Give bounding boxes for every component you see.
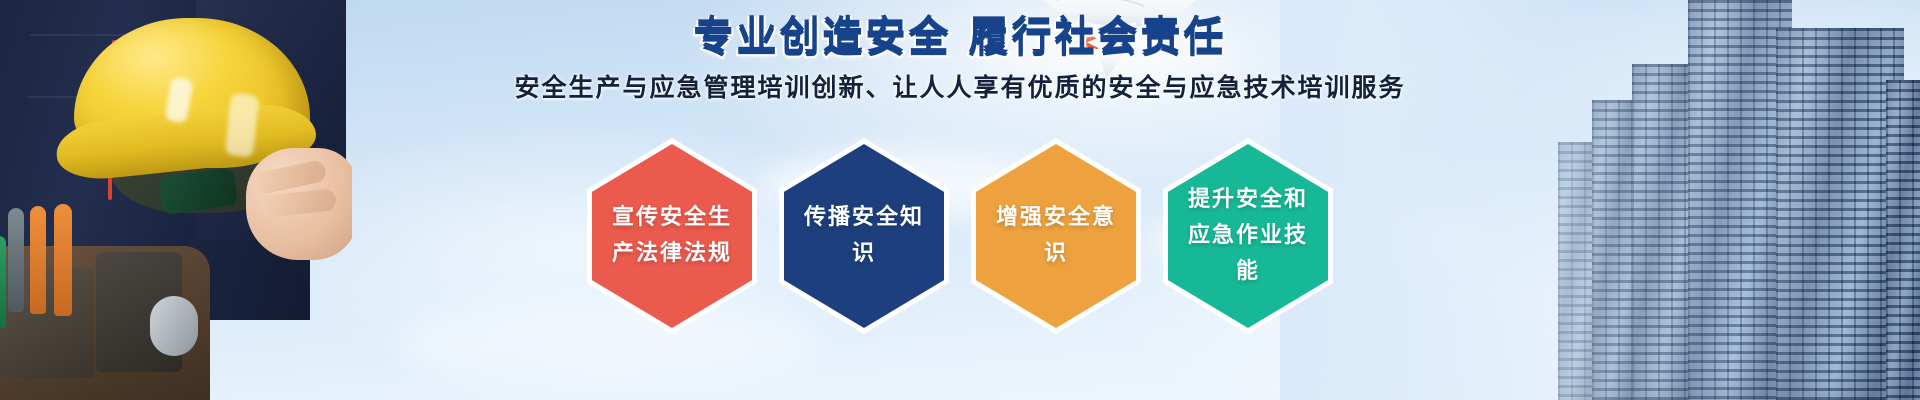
safety-training-banner: 专业创造安全 履行社会责任 专业创造安全 履行社会责任 安全生产与应急管理培训创… bbox=[0, 0, 1920, 400]
page-subtitle: 安全生产与应急管理培训创新、让人人享有优质的安全与应急技术培训服务 bbox=[0, 68, 1920, 104]
badge-laws-fill: 宣传安全生产法律法规 bbox=[592, 144, 752, 328]
badge-knowledge[interactable]: 传播安全知识 bbox=[779, 138, 949, 334]
page-title: 专业创造安全 履行社会责任 bbox=[0, 3, 1920, 61]
badge-laws-label: 宣传安全生产法律法规 bbox=[610, 200, 734, 272]
badge-knowledge-label: 传播安全知识 bbox=[802, 200, 926, 272]
badge-skills[interactable]: 提升安全和应急作业技能 bbox=[1163, 138, 1333, 334]
badge-skills-label: 提升安全和应急作业技能 bbox=[1186, 182, 1310, 290]
badge-awareness-label: 增强安全意识 bbox=[994, 200, 1118, 272]
headline-wrapper: 专业创造安全 履行社会责任 专业创造安全 履行社会责任 bbox=[0, 3, 1920, 57]
badge-awareness-fill: 增强安全意识 bbox=[976, 144, 1136, 328]
badge-skills-fill: 提升安全和应急作业技能 bbox=[1168, 144, 1328, 328]
badge-knowledge-fill: 传播安全知识 bbox=[784, 144, 944, 328]
badge-awareness[interactable]: 增强安全意识 bbox=[971, 138, 1141, 334]
badge-row: 宣传安全生产法律法规 传播安全知识 增强安全意识 提升安全和应急作业技能 bbox=[0, 138, 1920, 334]
badge-laws[interactable]: 宣传安全生产法律法规 bbox=[587, 138, 757, 334]
